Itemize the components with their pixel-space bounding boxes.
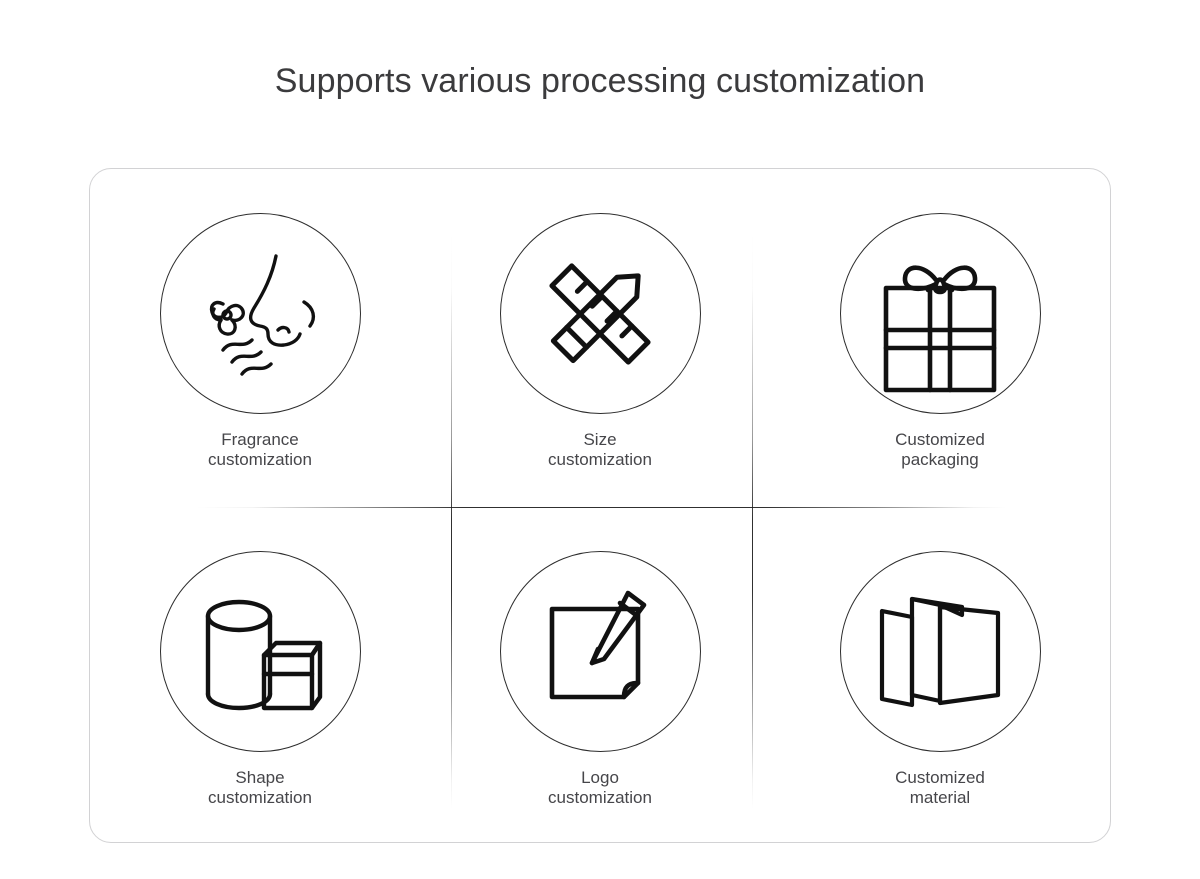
feature-label-line2: packaging [895,450,985,470]
feature-item-shape[interactable]: Shape customization [90,506,430,843]
ruler-pencil-icon [520,234,680,394]
icon-circle-shape [160,551,361,752]
icon-circle-logo [500,551,701,752]
feature-label-line1: Size [583,430,616,449]
nose-fragrance-icon [180,234,340,394]
feature-label-line2: customization [548,788,652,808]
feature-item-packaging[interactable]: Customized packaging [770,169,1110,506]
feature-label-line2: customization [208,788,312,808]
feature-label-fragrance: Fragrance customization [208,430,312,470]
feature-label-size: Size customization [548,430,652,470]
icon-circle-packaging [840,213,1041,414]
feature-label-line2: customization [548,450,652,470]
cylinder-cube-icon [180,571,340,731]
features-grid: Fragrance customization [90,169,1110,842]
feature-item-size[interactable]: Size customization [430,169,770,506]
feature-label-logo: Logo customization [548,768,652,808]
icon-circle-size [500,213,701,414]
feature-label-line1: Customized [895,768,985,787]
paper-pencil-icon [520,571,680,731]
icon-circle-fragrance [160,213,361,414]
feature-label-line2: customization [208,450,312,470]
page-root: Supports various processing customizatio… [0,0,1200,879]
feature-label-line2: material [895,788,985,808]
feature-item-fragrance[interactable]: Fragrance customization [90,169,430,506]
feature-label-line1: Fragrance [221,430,298,449]
feature-item-material[interactable]: Customized material [770,506,1110,843]
feature-label-line1: Shape [235,768,284,787]
feature-item-logo[interactable]: Logo customization [430,506,770,843]
feature-label-packaging: Customized packaging [895,430,985,470]
feature-label-line1: Logo [581,768,619,787]
icon-circle-material [840,551,1041,752]
feature-label-line1: Customized [895,430,985,449]
page-title: Supports various processing customizatio… [0,58,1200,104]
features-card: Fragrance customization [89,168,1111,843]
feature-label-material: Customized material [895,768,985,808]
feature-label-shape: Shape customization [208,768,312,808]
stacked-sheets-icon [860,571,1020,731]
gift-box-icon [860,234,1020,394]
